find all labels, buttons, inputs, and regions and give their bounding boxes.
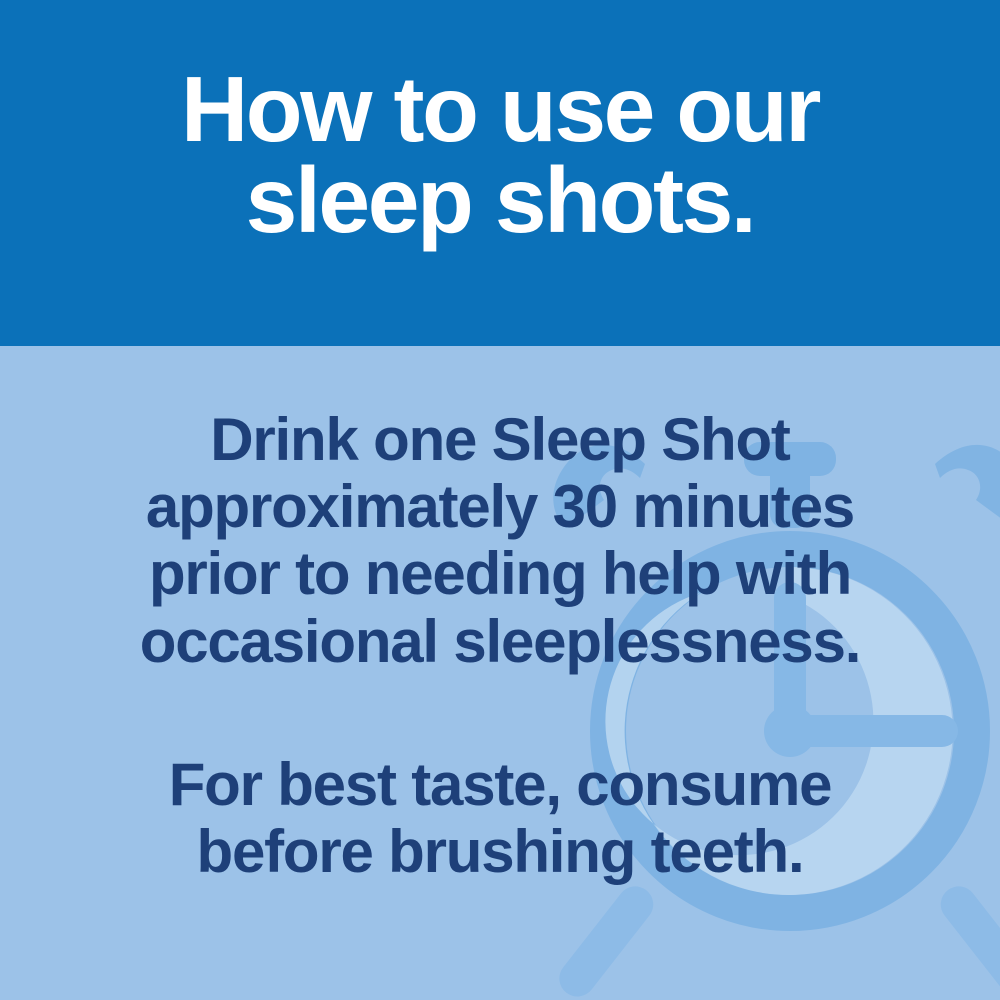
instruction-card: Drink one Sleep Shot approximately 30 mi… [0,0,1000,1000]
paragraph-spacer [40,675,960,751]
alarm-clock-legs [552,879,1000,1000]
header-band: How to use our sleep shots. [0,0,1000,346]
instruction-paragraph-dosage: Drink one Sleep Shot approximately 30 mi… [40,406,960,675]
instruction-paragraph-taste: For best taste, consume before brushing … [40,751,960,885]
page-title: How to use our sleep shots. [60,64,940,246]
body-copy: Drink one Sleep Shot approximately 30 mi… [40,406,960,885]
body-section: Drink one Sleep Shot approximately 30 mi… [0,346,1000,1000]
